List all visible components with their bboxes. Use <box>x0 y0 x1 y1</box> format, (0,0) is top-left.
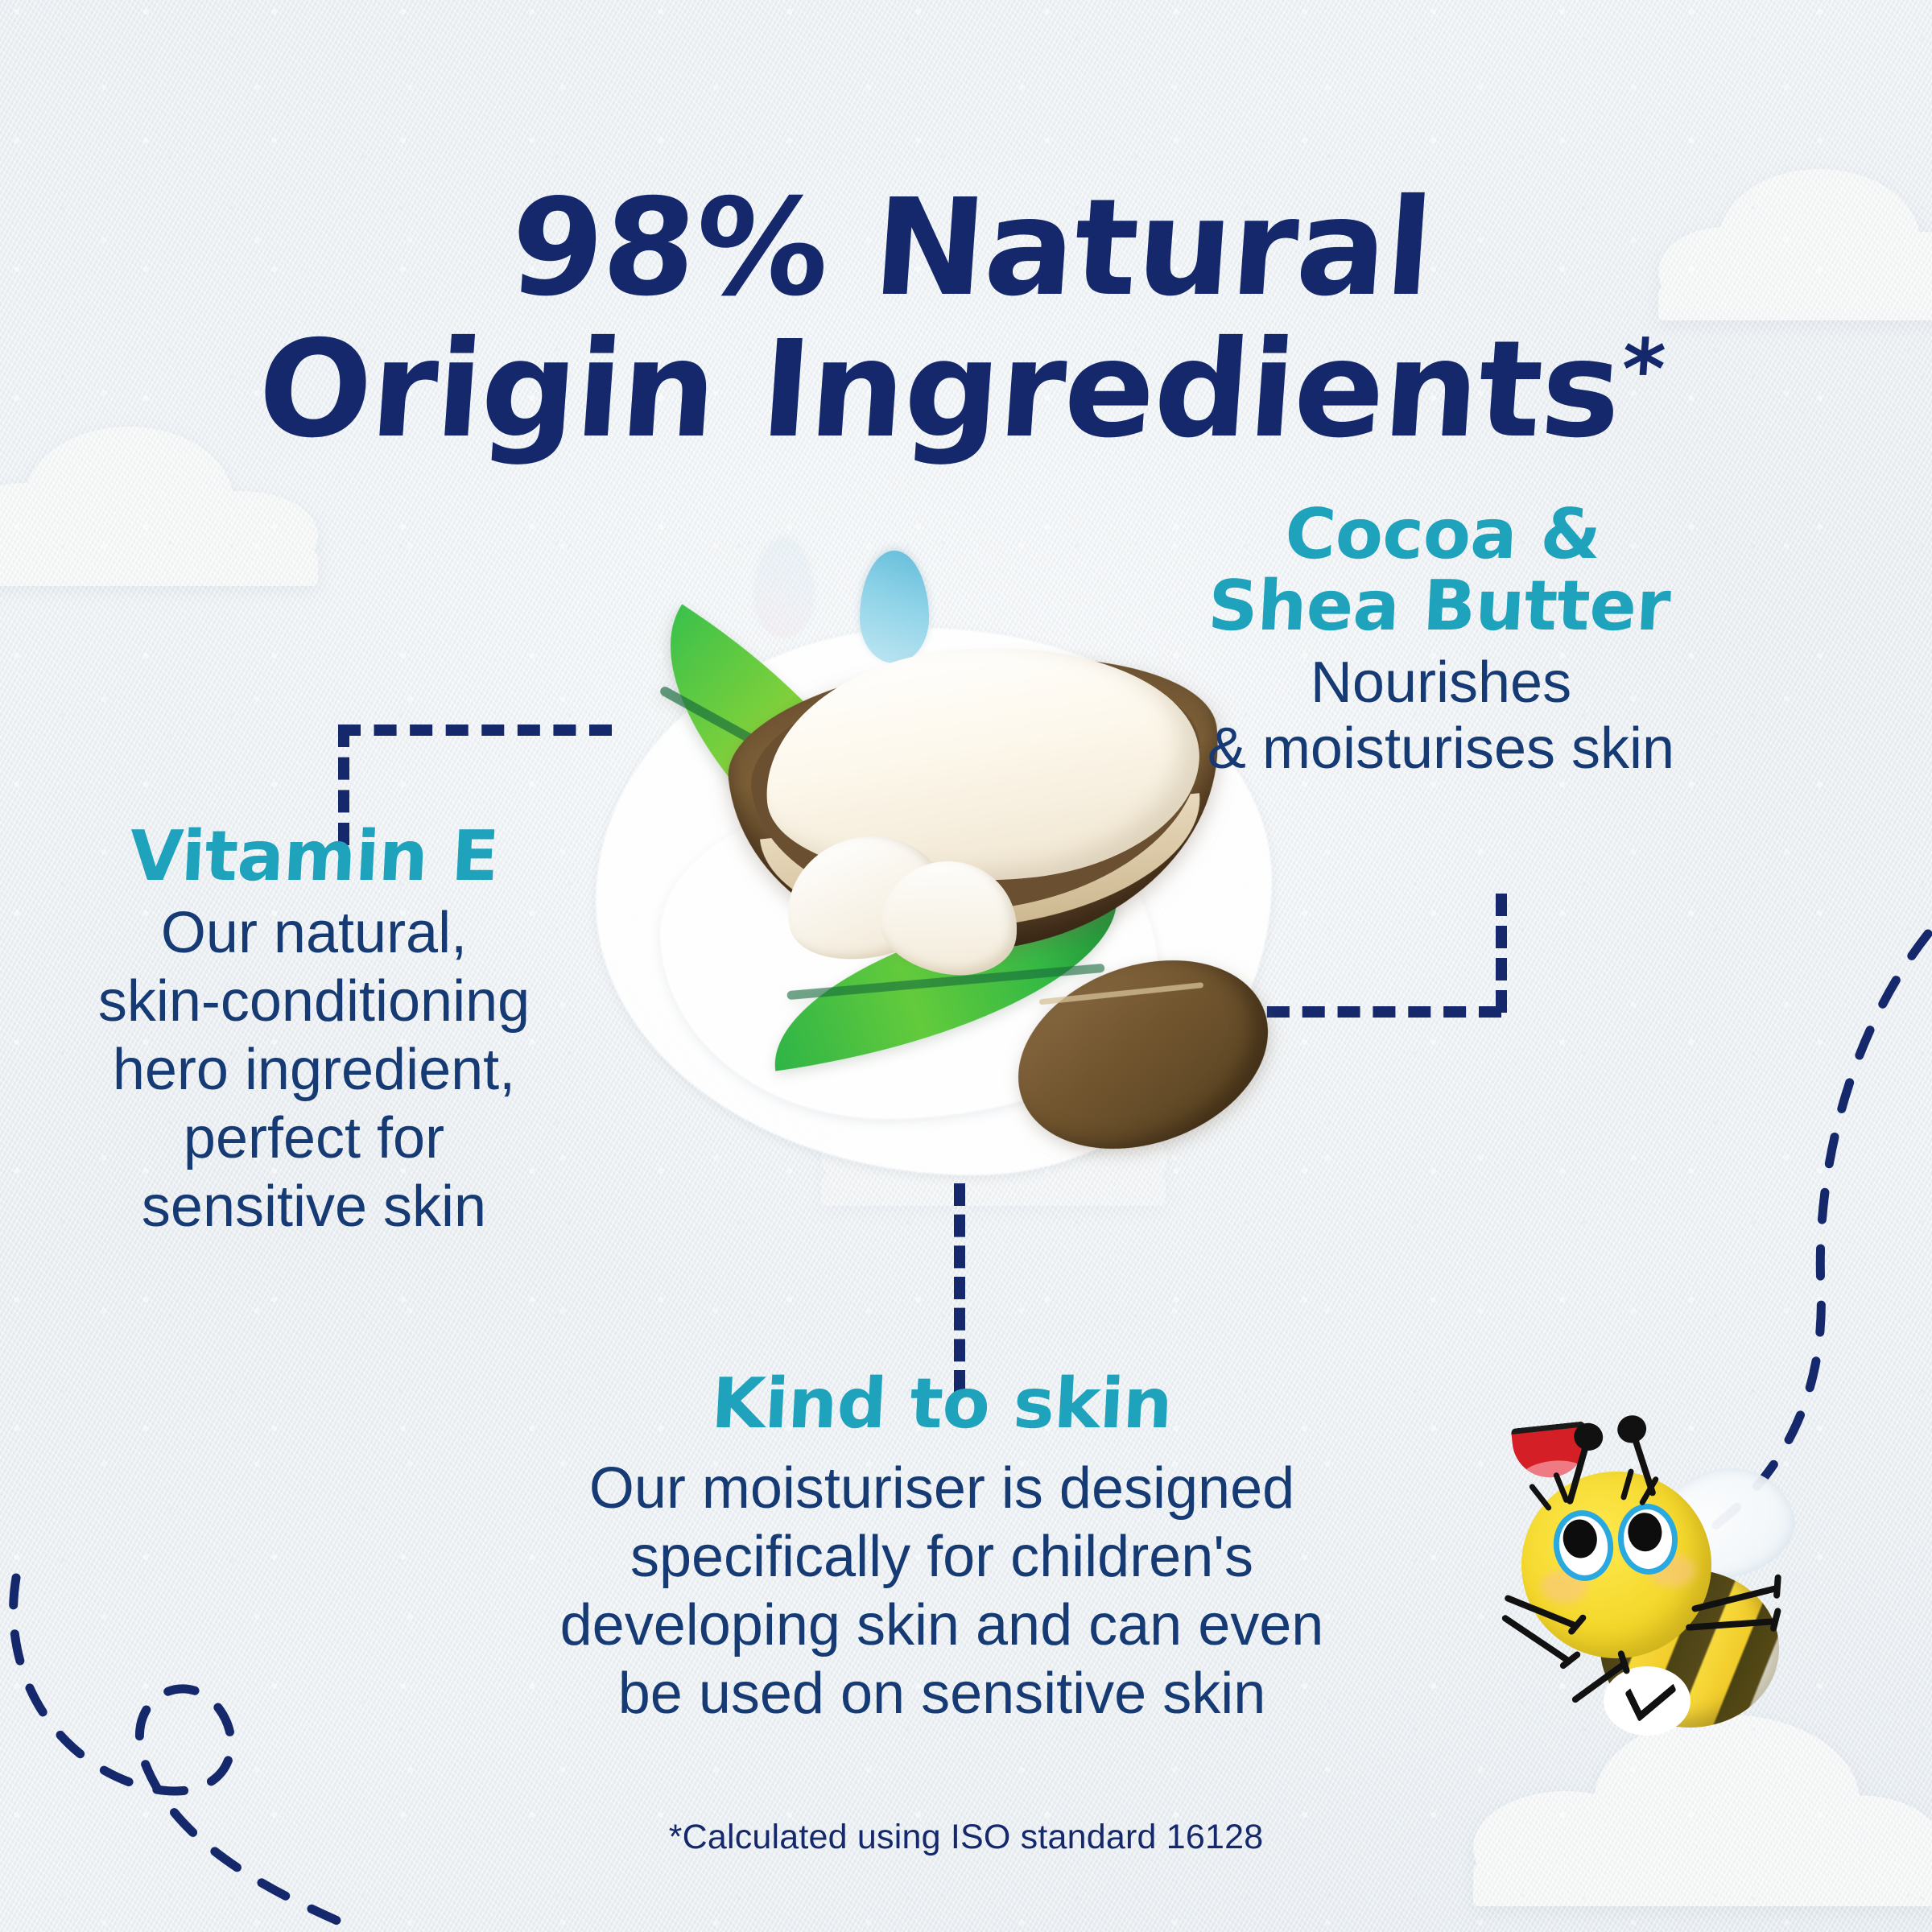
feature-vitamin-e-body: Our natural, skin-conditioning hero ingr… <box>32 899 596 1241</box>
feature-kind-to-skin-title: Kind to skin <box>433 1368 1451 1440</box>
feature-vitamin-e-body-line-5: sensitive skin <box>142 1174 486 1239</box>
feature-vitamin-e-body-line-4: perfect for <box>184 1106 444 1170</box>
asterisk-marker: * <box>1618 322 1668 419</box>
feature-vitamin-e-body-line-1: Our natural, <box>161 901 467 965</box>
feature-cocoa-body: Nourishes & moisturises skin <box>1135 650 1747 782</box>
feature-cocoa-title-line-2: Shea Butter <box>1206 566 1672 646</box>
feature-kind-to-skin-body-line-3: developing skin and can even <box>560 1593 1324 1657</box>
feature-cocoa-body-line-2: & moisturises skin <box>1207 716 1674 781</box>
feature-vitamin-e-title: Vitamin E <box>31 821 598 893</box>
feature-cocoa-shea-butter: Cocoa & Shea Butter Nourishes & moisturi… <box>1135 499 1747 782</box>
feature-kind-to-skin-body-line-2: specifically for children's <box>630 1525 1253 1589</box>
feature-kind-to-skin-body-line-1: Our moisturiser is designed <box>589 1456 1294 1521</box>
feature-cocoa-body-line-1: Nourishes <box>1311 650 1571 715</box>
feature-kind-to-skin-body-line-4: be used on sensitive skin <box>618 1662 1265 1726</box>
text-layer: 98% Natural Origin Ingredients* Cocoa & … <box>0 0 1932 1932</box>
ingredients-infographic: 98% Natural Origin Ingredients* Cocoa & … <box>0 0 1932 1932</box>
headline-line-2-wrap: Origin Ingredients* <box>0 320 1932 461</box>
headline-line-1: 98% Natural <box>506 171 1437 326</box>
footnote-iso-standard: *Calculated using ISO standard 16128 <box>0 1818 1932 1857</box>
feature-kind-to-skin-body: Our moisturiser is designed specifically… <box>435 1455 1449 1728</box>
headline-line-2: Origin Ingredients <box>253 312 1625 468</box>
feature-cocoa-title-line-1: Cocoa & <box>1283 494 1603 575</box>
feature-kind-to-skin: Kind to skin Our moisturiser is designed… <box>435 1368 1449 1728</box>
feature-vitamin-e: Vitamin E Our natural, skin-conditioning… <box>32 821 596 1241</box>
page-title: 98% Natural Origin Ingredients* <box>0 178 1932 461</box>
feature-cocoa-title: Cocoa & Shea Butter <box>1131 499 1750 643</box>
feature-vitamin-e-body-line-2: skin-conditioning <box>98 969 530 1034</box>
feature-vitamin-e-body-line-3: hero ingredient, <box>113 1038 515 1102</box>
